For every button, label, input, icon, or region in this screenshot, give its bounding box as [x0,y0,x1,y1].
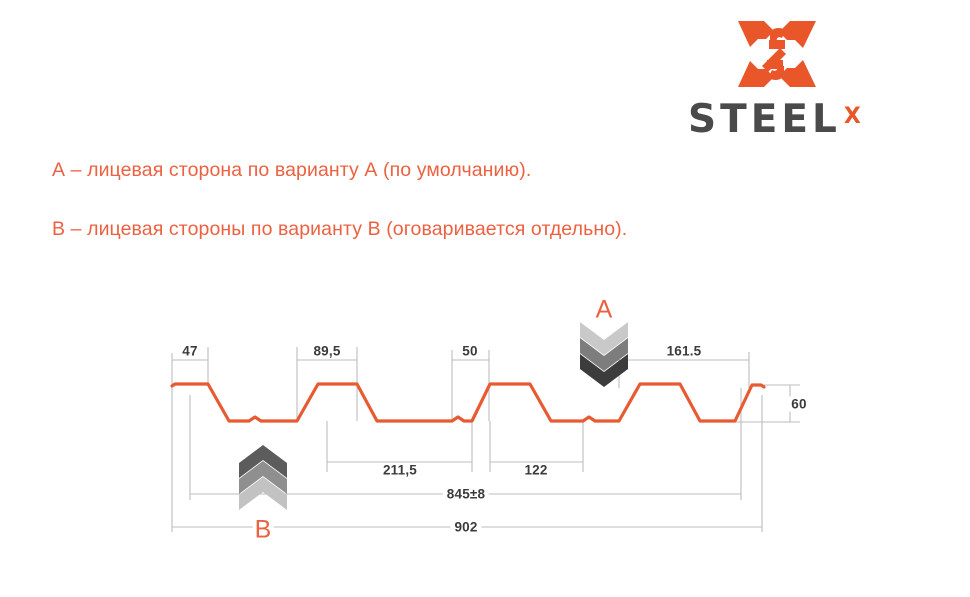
dim-label-profile-height: 60 [787,397,810,412]
dimension-lines [172,347,800,532]
marker-a-chevrons [580,322,628,387]
dim-label-crest-top-width: 50 [458,344,481,359]
marker-letter-a: A [594,296,615,325]
marker-letter-b: B [253,516,274,545]
dim-label-useful-width: 845±8 [443,487,489,502]
dim-label-pitch-minor: 122 [520,463,551,478]
dim-label-flat-top-left: 47 [178,344,201,359]
drawing-page: STEEL X А – лицевая сторона по варианту … [0,0,970,597]
profile-cross-section-drawing [0,0,970,597]
dim-label-right-span: 161.5 [663,344,706,359]
dim-label-crest-width: 89,5 [309,344,344,359]
profile-polyline [172,384,764,421]
marker-b-chevrons [239,445,287,510]
dim-label-pitch-major: 211,5 [379,463,421,478]
dim-label-overall-width: 902 [450,520,481,535]
